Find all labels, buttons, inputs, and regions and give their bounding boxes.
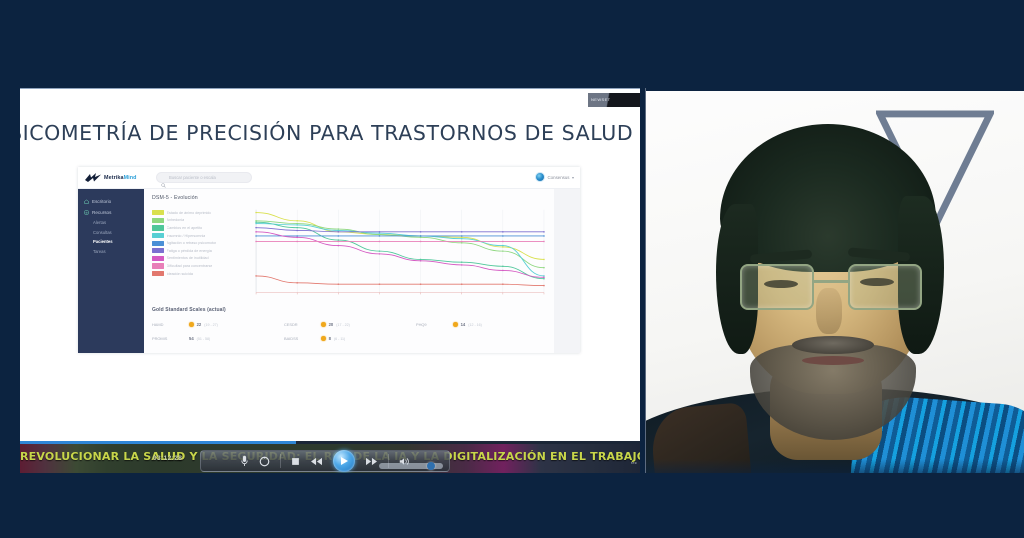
scale-value: 54 <box>189 336 194 341</box>
chart-data-point[interactable] <box>337 235 339 237</box>
chart-legend-swatch <box>152 271 164 276</box>
chart-data-point[interactable] <box>502 231 504 233</box>
person-mustache <box>792 336 874 354</box>
scale-entry[interactable]: PROMIS54(51 - 58) <box>152 336 284 341</box>
chart-legend-item[interactable]: Sentimientos de inutilidad <box>152 255 244 263</box>
search-input[interactable]: Buscar paciente o escala <box>156 172 252 183</box>
chart-data-point[interactable] <box>543 235 545 237</box>
webcam-video-panel[interactable]: HE skills <box>645 88 1024 473</box>
webcam-bottom-fade <box>646 459 1024 473</box>
sidebar-item-alertas[interactable]: Alertas <box>78 218 144 228</box>
sidebar-item-consultas[interactable]: Consultas <box>78 228 144 238</box>
chart-legend-swatch <box>152 241 164 246</box>
chart-legend-label: Cambios en el apetito <box>167 226 203 230</box>
chart-data-point[interactable] <box>543 259 545 261</box>
user-name: Consensus <box>548 175 570 180</box>
chart-legend-item[interactable]: Insomnio / Hipersomnia <box>152 232 244 240</box>
clipboard-icon <box>84 210 89 215</box>
chart-line-series[interactable] <box>256 228 544 232</box>
chart-legend-label: Ideación suicida <box>167 272 193 276</box>
dashboard-sidebar: Escritorio Recursos Alertas <box>78 189 144 353</box>
avatar <box>535 172 545 182</box>
sidebar-subitem-label: Tareas <box>93 249 106 254</box>
volume-slider-knob[interactable] <box>427 462 435 470</box>
chart-data-point[interactable] <box>296 237 298 239</box>
chart-data-point[interactable] <box>543 285 545 287</box>
video-progress-bar[interactable] <box>20 441 640 444</box>
chart-data-point[interactable] <box>379 234 381 236</box>
webcam-top-edge <box>646 88 1024 91</box>
chart-data-point[interactable] <box>461 238 463 240</box>
chart-data-point[interactable] <box>543 277 545 279</box>
sidebar-item-tareas[interactable]: Tareas <box>78 247 144 257</box>
search-icon <box>161 175 166 180</box>
evolution-chart-card: DSM-5 - Evolución Estado de ánimo deprim… <box>152 195 548 300</box>
app-logo[interactable]: MetrikaMind <box>78 172 148 183</box>
app-brand-name: MetrikaMind <box>104 175 137 181</box>
chart-data-point[interactable] <box>379 283 381 285</box>
scale-value: 22 <box>197 322 202 327</box>
chart-legend-label: Agitación o retraso psicomotor <box>167 241 217 245</box>
eyeglass-lens-left <box>740 264 814 310</box>
chart-legend-label: Insomnio / Hipersomnia <box>167 234 206 238</box>
chart-data-point[interactable] <box>461 283 463 285</box>
scale-entry[interactable]: HAMD22(19 - 27) <box>152 322 284 327</box>
sidebar-subitem-label: Pacientes <box>93 239 113 244</box>
chart-data-point[interactable] <box>420 231 422 233</box>
chart-data-point[interactable] <box>461 241 463 243</box>
person-eyeglasses <box>738 264 924 314</box>
chart-data-point[interactable] <box>502 265 504 267</box>
chart-data-point[interactable] <box>296 230 298 232</box>
chart-data-point[interactable] <box>296 224 298 226</box>
sidebar-subitem-label: Alertas <box>93 220 106 225</box>
chart-data-point[interactable] <box>255 221 257 223</box>
chart-data-point[interactable] <box>379 235 381 237</box>
chart-data-point[interactable] <box>255 223 257 225</box>
play-button[interactable] <box>333 450 355 472</box>
chart-data-point[interactable] <box>502 245 504 247</box>
chart-title: DSM-5 - Evolución <box>152 195 548 201</box>
chart-legend-swatch <box>152 263 164 268</box>
chart-data-point[interactable] <box>461 264 463 266</box>
scale-name: PHQ9 <box>416 322 450 327</box>
chart-legend-item[interactable]: Agitación o retraso psicomotor <box>152 239 244 247</box>
brand-part-2: Mind <box>124 175 137 181</box>
user-menu[interactable]: Consensus ▾ <box>535 172 574 182</box>
chart-data-point[interactable] <box>502 250 504 252</box>
scale-confidence-interval: (51 - 58) <box>197 337 211 341</box>
chart-data-point[interactable] <box>255 212 257 214</box>
chart-legend-swatch <box>152 218 164 223</box>
chart-legend-swatch <box>152 256 164 261</box>
chart-data-point[interactable] <box>296 220 298 222</box>
chart-legend-swatch <box>152 248 164 253</box>
scales-section-title: Gold Standard Scales (actual) <box>152 307 548 313</box>
chart-legend-item[interactable]: Ideación suicida <box>152 270 244 278</box>
eyeglass-lens-right <box>848 264 922 310</box>
chart-data-point[interactable] <box>337 231 339 233</box>
scale-value: 8 <box>329 336 331 341</box>
chart-data-point[interactable] <box>337 239 339 241</box>
shared-slide-panel[interactable]: NEWSET PSICOMETRÍA DE PRECISIÓN PARA TRA… <box>20 88 640 473</box>
dashboard-right-rail <box>554 189 580 353</box>
chart-data-point[interactable] <box>461 242 463 244</box>
slide-title: PSICOMETRÍA DE PRECISIÓN PARA TRASTORNOS… <box>20 121 640 145</box>
chart-data-point[interactable] <box>420 237 422 239</box>
player-banner-strip: REVOLUCIONAR LA SALUD Y LA SEGURIDAD: EL… <box>20 441 640 473</box>
chart-data-point[interactable] <box>337 245 339 247</box>
lightning-bolt-icon <box>84 172 102 183</box>
chart-data-point[interactable] <box>296 241 298 243</box>
chart-legend-item[interactable]: Anhedonia <box>152 217 244 225</box>
chart-data-point[interactable] <box>296 282 298 284</box>
chart-data-point[interactable] <box>543 267 545 269</box>
chart-legend-item[interactable]: Estado de ánimo deprimido <box>152 209 244 217</box>
slide-watermark: NEWSET <box>588 93 640 107</box>
scale-entry[interactable]: PHQ914(12 - 16) <box>416 322 548 327</box>
chart-data-point[interactable] <box>420 260 422 262</box>
screen-stage: NEWSET PSICOMETRÍA DE PRECISIÓN PARA TRA… <box>0 0 1024 538</box>
scales-grid: HAMD22(19 - 27)CESDR20(17 - 22)PHQ914(12… <box>152 322 548 341</box>
scale-confidence-interval: (6 - 11) <box>334 337 345 341</box>
chart-data-point[interactable] <box>255 227 257 229</box>
scale-name: BAIDSS <box>284 336 318 341</box>
player-watermark: rec <box>631 460 637 465</box>
chart-data-point[interactable] <box>379 231 381 233</box>
chart-data-point[interactable] <box>461 231 463 233</box>
chart-data-point[interactable] <box>502 246 504 248</box>
chart-legend-label: Fatiga o pérdida de energía <box>167 249 212 253</box>
chart-data-point[interactable] <box>461 237 463 239</box>
video-timestamp: 03:12:28 <box>153 455 182 462</box>
video-player-controls[interactable] <box>200 450 450 472</box>
fast-forward-button[interactable] <box>365 457 378 466</box>
scale-name: PROMIS <box>152 336 186 341</box>
chart-svg <box>246 206 548 300</box>
chart-legend-label: Sentimientos de inutilidad <box>167 256 209 260</box>
brand-part-1: Metrika <box>104 175 124 181</box>
chart-data-point[interactable] <box>379 250 381 252</box>
scale-status-dot <box>321 336 326 341</box>
microphone-button[interactable] <box>240 455 249 467</box>
sidebar-subitem-label: Consultas <box>93 230 112 235</box>
chart-data-point[interactable] <box>296 235 298 237</box>
volume-slider[interactable] <box>379 463 443 469</box>
person-on-camera <box>646 88 1024 473</box>
sidebar-item-recursos[interactable]: Recursos <box>78 207 144 218</box>
chart-legend-label: Anhedonia <box>167 218 185 222</box>
chart-data-point[interactable] <box>543 275 545 277</box>
scale-value: 14 <box>461 322 466 327</box>
slide-watermark-line1: NEWSET <box>588 93 640 102</box>
chart-legend-label: Estado de ánimo deprimido <box>167 211 212 215</box>
chart-data-point[interactable] <box>337 228 339 230</box>
scale-name: HAMD <box>152 322 186 327</box>
chart-data-point[interactable] <box>543 241 545 243</box>
chart-data-point[interactable] <box>461 235 463 237</box>
chart-data-point[interactable] <box>379 232 381 234</box>
chart-data-point[interactable] <box>420 235 422 237</box>
chart-data-point[interactable] <box>379 253 381 255</box>
chart-data-point[interactable] <box>379 241 381 243</box>
scale-entry[interactable]: BAIDSS8(6 - 11) <box>284 336 416 341</box>
control-divider <box>280 454 281 468</box>
chart-line-series[interactable] <box>256 276 544 286</box>
chart-data-point[interactable] <box>502 241 504 243</box>
chart-legend-label: Dificultad para concentrarse <box>167 264 213 268</box>
chart-data-point[interactable] <box>255 275 257 277</box>
chart-legend-swatch <box>152 225 164 230</box>
chart-legend: Estado de ánimo deprimidoAnhedoniaCambio… <box>152 206 244 300</box>
sidebar-item-escritorio[interactable]: Escritorio <box>78 196 144 207</box>
scale-status-dot <box>453 322 458 327</box>
search-placeholder-text: Buscar paciente o escala <box>169 175 216 180</box>
chart-data-point[interactable] <box>502 270 504 272</box>
scale-confidence-interval: (17 - 22) <box>336 323 350 327</box>
chart-data-point[interactable] <box>255 220 257 222</box>
chart-data-point[interactable] <box>461 261 463 263</box>
chart-data-point[interactable] <box>337 230 339 232</box>
rewind-button[interactable] <box>310 457 323 466</box>
chart-line-series[interactable] <box>256 232 544 277</box>
gold-standard-scales-card: Gold Standard Scales (actual) HAMD22(19 … <box>152 307 548 349</box>
chart-data-point[interactable] <box>420 259 422 261</box>
chart-data-point[interactable] <box>255 235 257 237</box>
home-icon <box>84 199 89 204</box>
chart-data-point[interactable] <box>543 231 545 233</box>
dashboard-topbar: MetrikaMind Buscar paciente o escala Con… <box>78 167 580 189</box>
scale-name: CESDR <box>284 322 318 327</box>
scale-status-dot <box>321 322 326 327</box>
chart-data-point[interactable] <box>296 223 298 225</box>
chart-data-point[interactable] <box>296 227 298 229</box>
chevron-down-icon: ▾ <box>572 175 574 180</box>
play-icon <box>341 457 348 465</box>
stop-button[interactable] <box>291 457 300 466</box>
scale-confidence-interval: (12 - 16) <box>468 323 482 327</box>
chart-data-point[interactable] <box>543 278 545 280</box>
chart-legend-item[interactable]: Cambios en el apetito <box>152 224 244 232</box>
scale-status-dot <box>189 322 194 327</box>
scale-value: 20 <box>329 322 334 327</box>
person-mouth <box>802 356 864 365</box>
chart-legend-swatch <box>152 210 164 215</box>
chart-data-point[interactable] <box>420 241 422 243</box>
dashboard-screenshot[interactable]: MetrikaMind Buscar paciente o escala Con… <box>78 167 580 353</box>
chart-data-point[interactable] <box>420 283 422 285</box>
sidebar-item-label: Escritorio <box>92 199 111 204</box>
scale-entry[interactable]: CESDR20(17 - 22) <box>284 322 416 327</box>
chart-data-point[interactable] <box>337 241 339 243</box>
chart-body: Estado de ánimo deprimidoAnhedoniaCambio… <box>152 206 548 300</box>
record-button[interactable] <box>259 456 270 467</box>
chart-data-point[interactable] <box>255 231 257 233</box>
chart-legend-swatch <box>152 233 164 238</box>
chart-data-point[interactable] <box>502 235 504 237</box>
chart-data-point[interactable] <box>255 241 257 243</box>
chart-plot-area[interactable] <box>246 206 548 300</box>
chart-data-point[interactable] <box>502 283 504 285</box>
video-progress-fill <box>20 441 296 444</box>
sidebar-item-pacientes[interactable]: Pacientes <box>78 237 144 247</box>
chart-data-point[interactable] <box>337 283 339 285</box>
dashboard-content: DSM-5 - Evolución Estado de ánimo deprim… <box>144 189 554 353</box>
chart-legend-item[interactable]: Dificultad para concentrarse <box>152 262 244 270</box>
sidebar-item-label: Recursos <box>92 210 111 215</box>
eyeglass-bridge <box>814 280 848 283</box>
scale-confidence-interval: (19 - 27) <box>204 323 218 327</box>
chart-legend-item[interactable]: Fatiga o pérdida de energía <box>152 247 244 255</box>
